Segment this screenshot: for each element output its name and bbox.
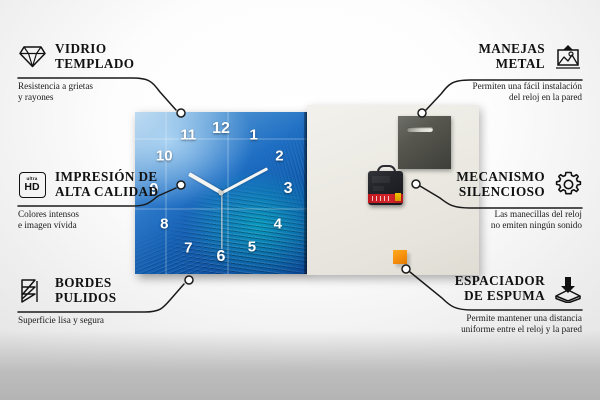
callout-title-line2: SILENCIOSO	[459, 185, 545, 200]
foam-spacer-icon	[554, 275, 582, 303]
callout-desc-line1: Las manecillas del reloj	[400, 209, 582, 220]
callout-title-line1: IMPRESIÓN DE	[55, 170, 158, 185]
callout-title-line1: MECANISMO	[456, 170, 545, 185]
polished-edges-icon	[18, 277, 46, 305]
gear-icon	[554, 171, 582, 199]
callout-desc-line2: y rayones	[18, 92, 193, 103]
callout-desc-line2: e imagen vívida	[18, 220, 198, 231]
callout-title-line2: TEMPLADO	[55, 57, 134, 72]
infographic-canvas: 12 1 2 3 4 5 6 7 8 9 10 11	[0, 0, 600, 400]
callout-title-line2: ALTA CALIDAD	[55, 185, 158, 200]
callout-title-line1: BORDES	[55, 276, 116, 291]
callout-desc-line1: Resistencia a grietas	[18, 81, 193, 92]
callout-desc-line2: uniforme entre el reloj y la pared	[390, 324, 582, 335]
ultra-hd-badge-icon: ultra HD	[18, 171, 46, 199]
callout-espaciador-espuma: ESPACIADOR DE ESPUMA Permite mantener un…	[390, 274, 582, 335]
callout-desc-line1: Permite mantener una distancia	[390, 313, 582, 324]
callout-bordes-pulidos: BORDES PULIDOS Superficie lisa y segura	[18, 276, 198, 326]
callout-title-line1: MANEJAS	[478, 42, 545, 57]
callout-title-line2: DE ESPUMA	[464, 289, 545, 304]
callout-title-line1: ESPACIADOR	[455, 274, 545, 289]
callout-desc-line1: Colores intensos	[18, 209, 198, 220]
callout-desc-line2: no emiten ningún sonido	[400, 220, 582, 231]
callout-mecanismo-silencioso: MECANISMO SILENCIOSO Las manecillas del …	[400, 170, 582, 231]
callout-desc-line2: del reloj en la pared	[407, 92, 582, 103]
callout-vidrio-templado: VIDRIO TEMPLADO Resistencia a grietas y …	[18, 42, 193, 103]
callout-title-line1: VIDRIO	[55, 42, 134, 57]
callout-desc-line1: Permiten una fácil instalación	[407, 81, 582, 92]
ultra-hd-main-text: HD	[24, 182, 39, 193]
callout-impresion-alta-calidad: ultra HD IMPRESIÓN DE ALTA CALIDAD Color…	[18, 170, 198, 231]
callout-title-line2: PULIDOS	[55, 291, 116, 306]
picture-hanger-icon	[554, 43, 582, 71]
callout-title-line2: METAL	[496, 57, 545, 72]
diamond-icon	[18, 43, 46, 71]
callout-manejas-metal: MANEJAS METAL Permiten una fácil instala…	[407, 42, 582, 103]
callout-desc-line1: Superficie lisa y segura	[18, 315, 198, 326]
